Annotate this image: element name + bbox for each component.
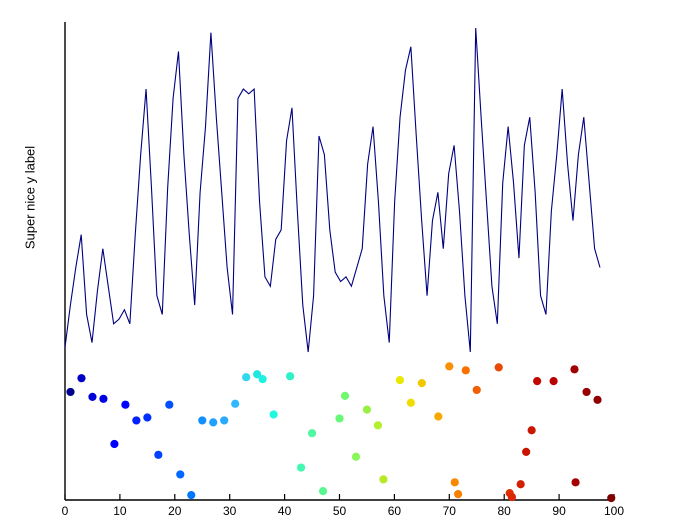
scatter-point — [220, 416, 228, 424]
scatter-point — [517, 480, 525, 488]
scatter-point — [454, 490, 462, 498]
noisy-signal-line — [65, 28, 600, 352]
x-tick-label: 90 — [539, 504, 579, 518]
scatter-point — [363, 406, 371, 414]
x-tick-label: 50 — [320, 504, 360, 518]
scatter-point — [231, 400, 239, 408]
scatter-point — [341, 392, 349, 400]
scatter-point — [308, 429, 316, 437]
scatter-point — [550, 377, 558, 385]
scatter-point — [451, 478, 459, 486]
scatter-point — [209, 418, 217, 426]
scatter-point — [187, 491, 195, 499]
scatter-point — [571, 478, 579, 486]
scatter-point — [462, 366, 470, 374]
scatter-point — [352, 453, 360, 461]
x-tick-label: 80 — [484, 504, 524, 518]
x-tick-label: 100 — [594, 504, 634, 518]
x-tick-label: 40 — [265, 504, 305, 518]
scatter-point — [335, 414, 343, 422]
scatter-point — [66, 388, 74, 396]
scatter-point — [379, 475, 387, 483]
x-tick-label: 60 — [374, 504, 414, 518]
scatter-point — [407, 399, 415, 407]
scatter-point — [242, 373, 250, 381]
scatter-point — [396, 376, 404, 384]
x-tick-label: 30 — [210, 504, 250, 518]
scatter-point — [522, 448, 530, 456]
scatter-point — [374, 421, 382, 429]
scatter-point — [110, 440, 118, 448]
scatter-point — [418, 379, 426, 387]
scatter-point — [473, 386, 481, 394]
scatter-point — [607, 494, 615, 502]
scatter-point — [259, 375, 267, 383]
scatter-point — [99, 395, 107, 403]
scatter-point — [533, 377, 541, 385]
scatter-point — [593, 396, 601, 404]
scatter-point — [132, 416, 140, 424]
scatter-point — [445, 362, 453, 370]
x-axis-ticks — [65, 494, 614, 500]
figure-canvas: Super nice y label 010203040506070809010… — [0, 0, 684, 522]
x-tick-label: 70 — [429, 504, 469, 518]
x-tick-label: 20 — [155, 504, 195, 518]
rainbow-scatter — [66, 362, 615, 502]
scatter-point — [434, 412, 442, 420]
scatter-point — [77, 374, 85, 382]
scatter-point — [286, 372, 294, 380]
scatter-point — [297, 463, 305, 471]
scatter-point — [570, 365, 578, 373]
x-tick-label: 10 — [100, 504, 140, 518]
scatter-point — [88, 393, 96, 401]
scatter-point — [165, 401, 173, 409]
scatter-point — [495, 363, 503, 371]
scatter-point — [582, 388, 590, 396]
scatter-point — [270, 410, 278, 418]
scatter-point — [198, 416, 206, 424]
plot-area — [0, 0, 684, 522]
scatter-point — [508, 493, 516, 501]
scatter-point — [143, 413, 151, 421]
scatter-point — [176, 470, 184, 478]
scatter-point — [319, 487, 327, 495]
x-tick-label: 0 — [45, 504, 85, 518]
scatter-point — [528, 426, 536, 434]
scatter-point — [121, 401, 129, 409]
scatter-point — [154, 451, 162, 459]
